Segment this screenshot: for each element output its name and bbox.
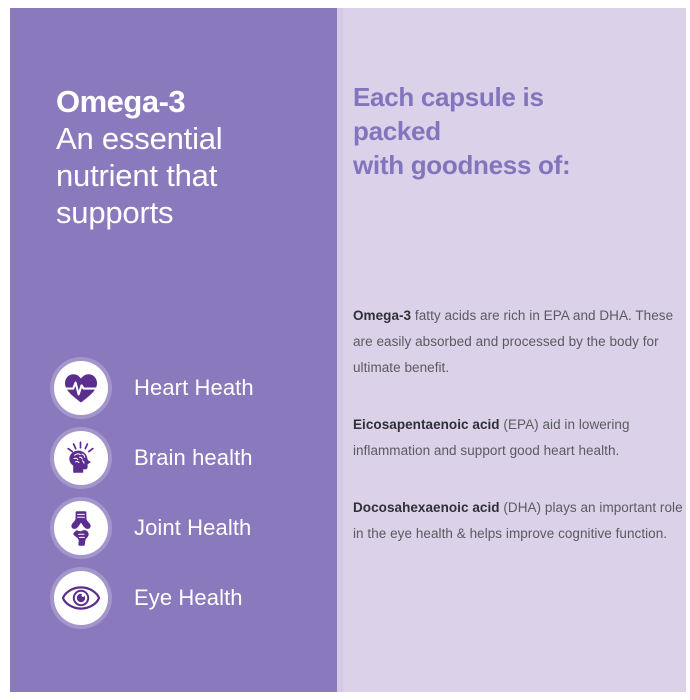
page-title: Omega-3 An essential nutrient that suppo… xyxy=(56,83,306,231)
right-panel-title: Each capsule is packed with goodness of: xyxy=(353,80,683,182)
fact-item: Eicosapentaenoic acid (EPA) aid in lower… xyxy=(353,412,686,464)
list-item: Heart Heath xyxy=(54,353,329,423)
title-line-2: nutrient that xyxy=(56,157,306,194)
right-title-line-3: with goodness of: xyxy=(353,148,683,182)
facts-list: Omega-3 fatty acids are rich in EPA and … xyxy=(353,289,686,547)
benefit-label: Brain health xyxy=(134,445,253,471)
title-brand: Omega-3 xyxy=(56,83,306,120)
list-item: Joint Health xyxy=(54,493,329,563)
brain-head-icon xyxy=(54,431,108,485)
eye-icon xyxy=(54,571,108,625)
right-title-line-1: Each capsule is xyxy=(353,80,683,114)
benefit-label: Heart Heath xyxy=(134,375,254,401)
fact-item: Docosahexaenoic acid (DHA) plays an impo… xyxy=(353,495,686,547)
fact-term: Omega-3 xyxy=(353,308,411,323)
knee-joint-icon xyxy=(54,501,108,555)
infographic-poster: Omega-3 An essential nutrient that suppo… xyxy=(10,8,686,692)
fact-item: Omega-3 fatty acids are rich in EPA and … xyxy=(353,303,686,381)
fact-term: Eicosapentaenoic acid xyxy=(353,417,500,432)
benefit-label: Joint Health xyxy=(134,515,251,541)
list-item: Eye Health xyxy=(54,563,329,633)
benefits-list: Heart Heath xyxy=(54,353,329,633)
title-line-3: supports xyxy=(56,194,306,231)
right-title-line-2: packed xyxy=(353,114,683,148)
right-panel: Each capsule is packed with goodness of:… xyxy=(343,8,686,692)
title-line-1: An essential xyxy=(56,120,306,157)
fact-term: Docosahexaenoic acid xyxy=(353,500,500,515)
heart-pulse-icon xyxy=(54,361,108,415)
benefit-label: Eye Health xyxy=(134,585,243,611)
list-item: Brain health xyxy=(54,423,329,493)
left-panel: Omega-3 An essential nutrient that suppo… xyxy=(10,8,337,692)
